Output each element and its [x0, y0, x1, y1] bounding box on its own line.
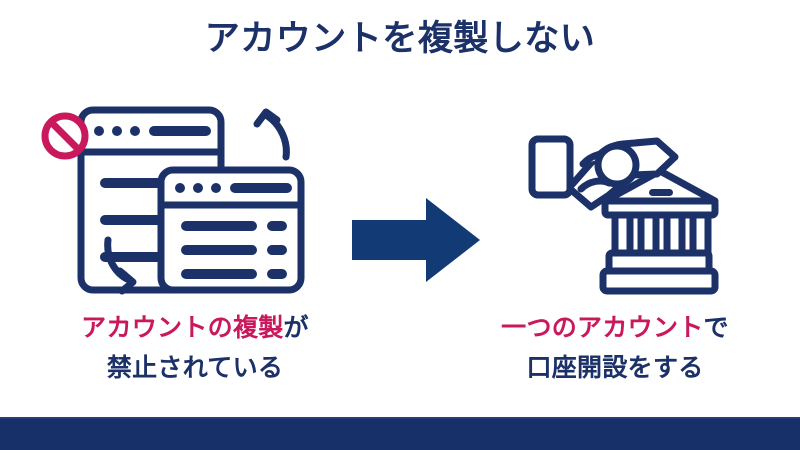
- left-caption-line-1: アカウントの複製が: [20, 308, 370, 348]
- back-window-titlebar-dots: [94, 126, 140, 136]
- front-window-titlebar-dots: [175, 183, 221, 193]
- no-entry-icon: [45, 116, 85, 156]
- right-illustration: [505, 95, 745, 295]
- left-caption: アカウントの複製が 禁止されている: [20, 308, 370, 388]
- right-caption-tail: で: [704, 314, 729, 342]
- curved-arrow-down-right-icon: [108, 240, 133, 291]
- duplicate-windows-illustration: [34, 95, 324, 295]
- right-caption-line-1: 一つのアカウントで: [440, 308, 790, 348]
- center-arrow: [352, 198, 480, 282]
- wrist-cuff: [532, 139, 570, 195]
- hand-coin-bank-illustration: [505, 95, 745, 295]
- curved-arrow-up-left-icon: [257, 112, 286, 157]
- bank-coin-slot: [649, 189, 673, 196]
- arrow-right-icon: [352, 198, 480, 282]
- back-window-address-bar: [149, 126, 211, 136]
- right-caption: 一つのアカウントで 口座開設をする: [440, 308, 790, 388]
- bottom-accent-bar: [0, 419, 800, 450]
- bank-base: [603, 253, 715, 291]
- left-caption-highlight: アカウントの複製: [81, 314, 283, 342]
- right-caption-line-2: 口座開設をする: [440, 348, 790, 388]
- page-title: アカウントを複製しない: [0, 17, 800, 61]
- left-caption-tail: が: [284, 314, 309, 342]
- left-illustration: [34, 95, 324, 295]
- left-caption-line-2: 禁止されている: [20, 348, 370, 388]
- front-window-address-bar: [230, 183, 292, 193]
- bank-columns: [615, 213, 708, 253]
- right-caption-highlight: 一つのアカウント: [501, 314, 703, 342]
- front-window-content-rows: [181, 221, 287, 279]
- slide-canvas: アカウントを複製しない: [0, 0, 800, 450]
- coin-icon: [598, 146, 636, 184]
